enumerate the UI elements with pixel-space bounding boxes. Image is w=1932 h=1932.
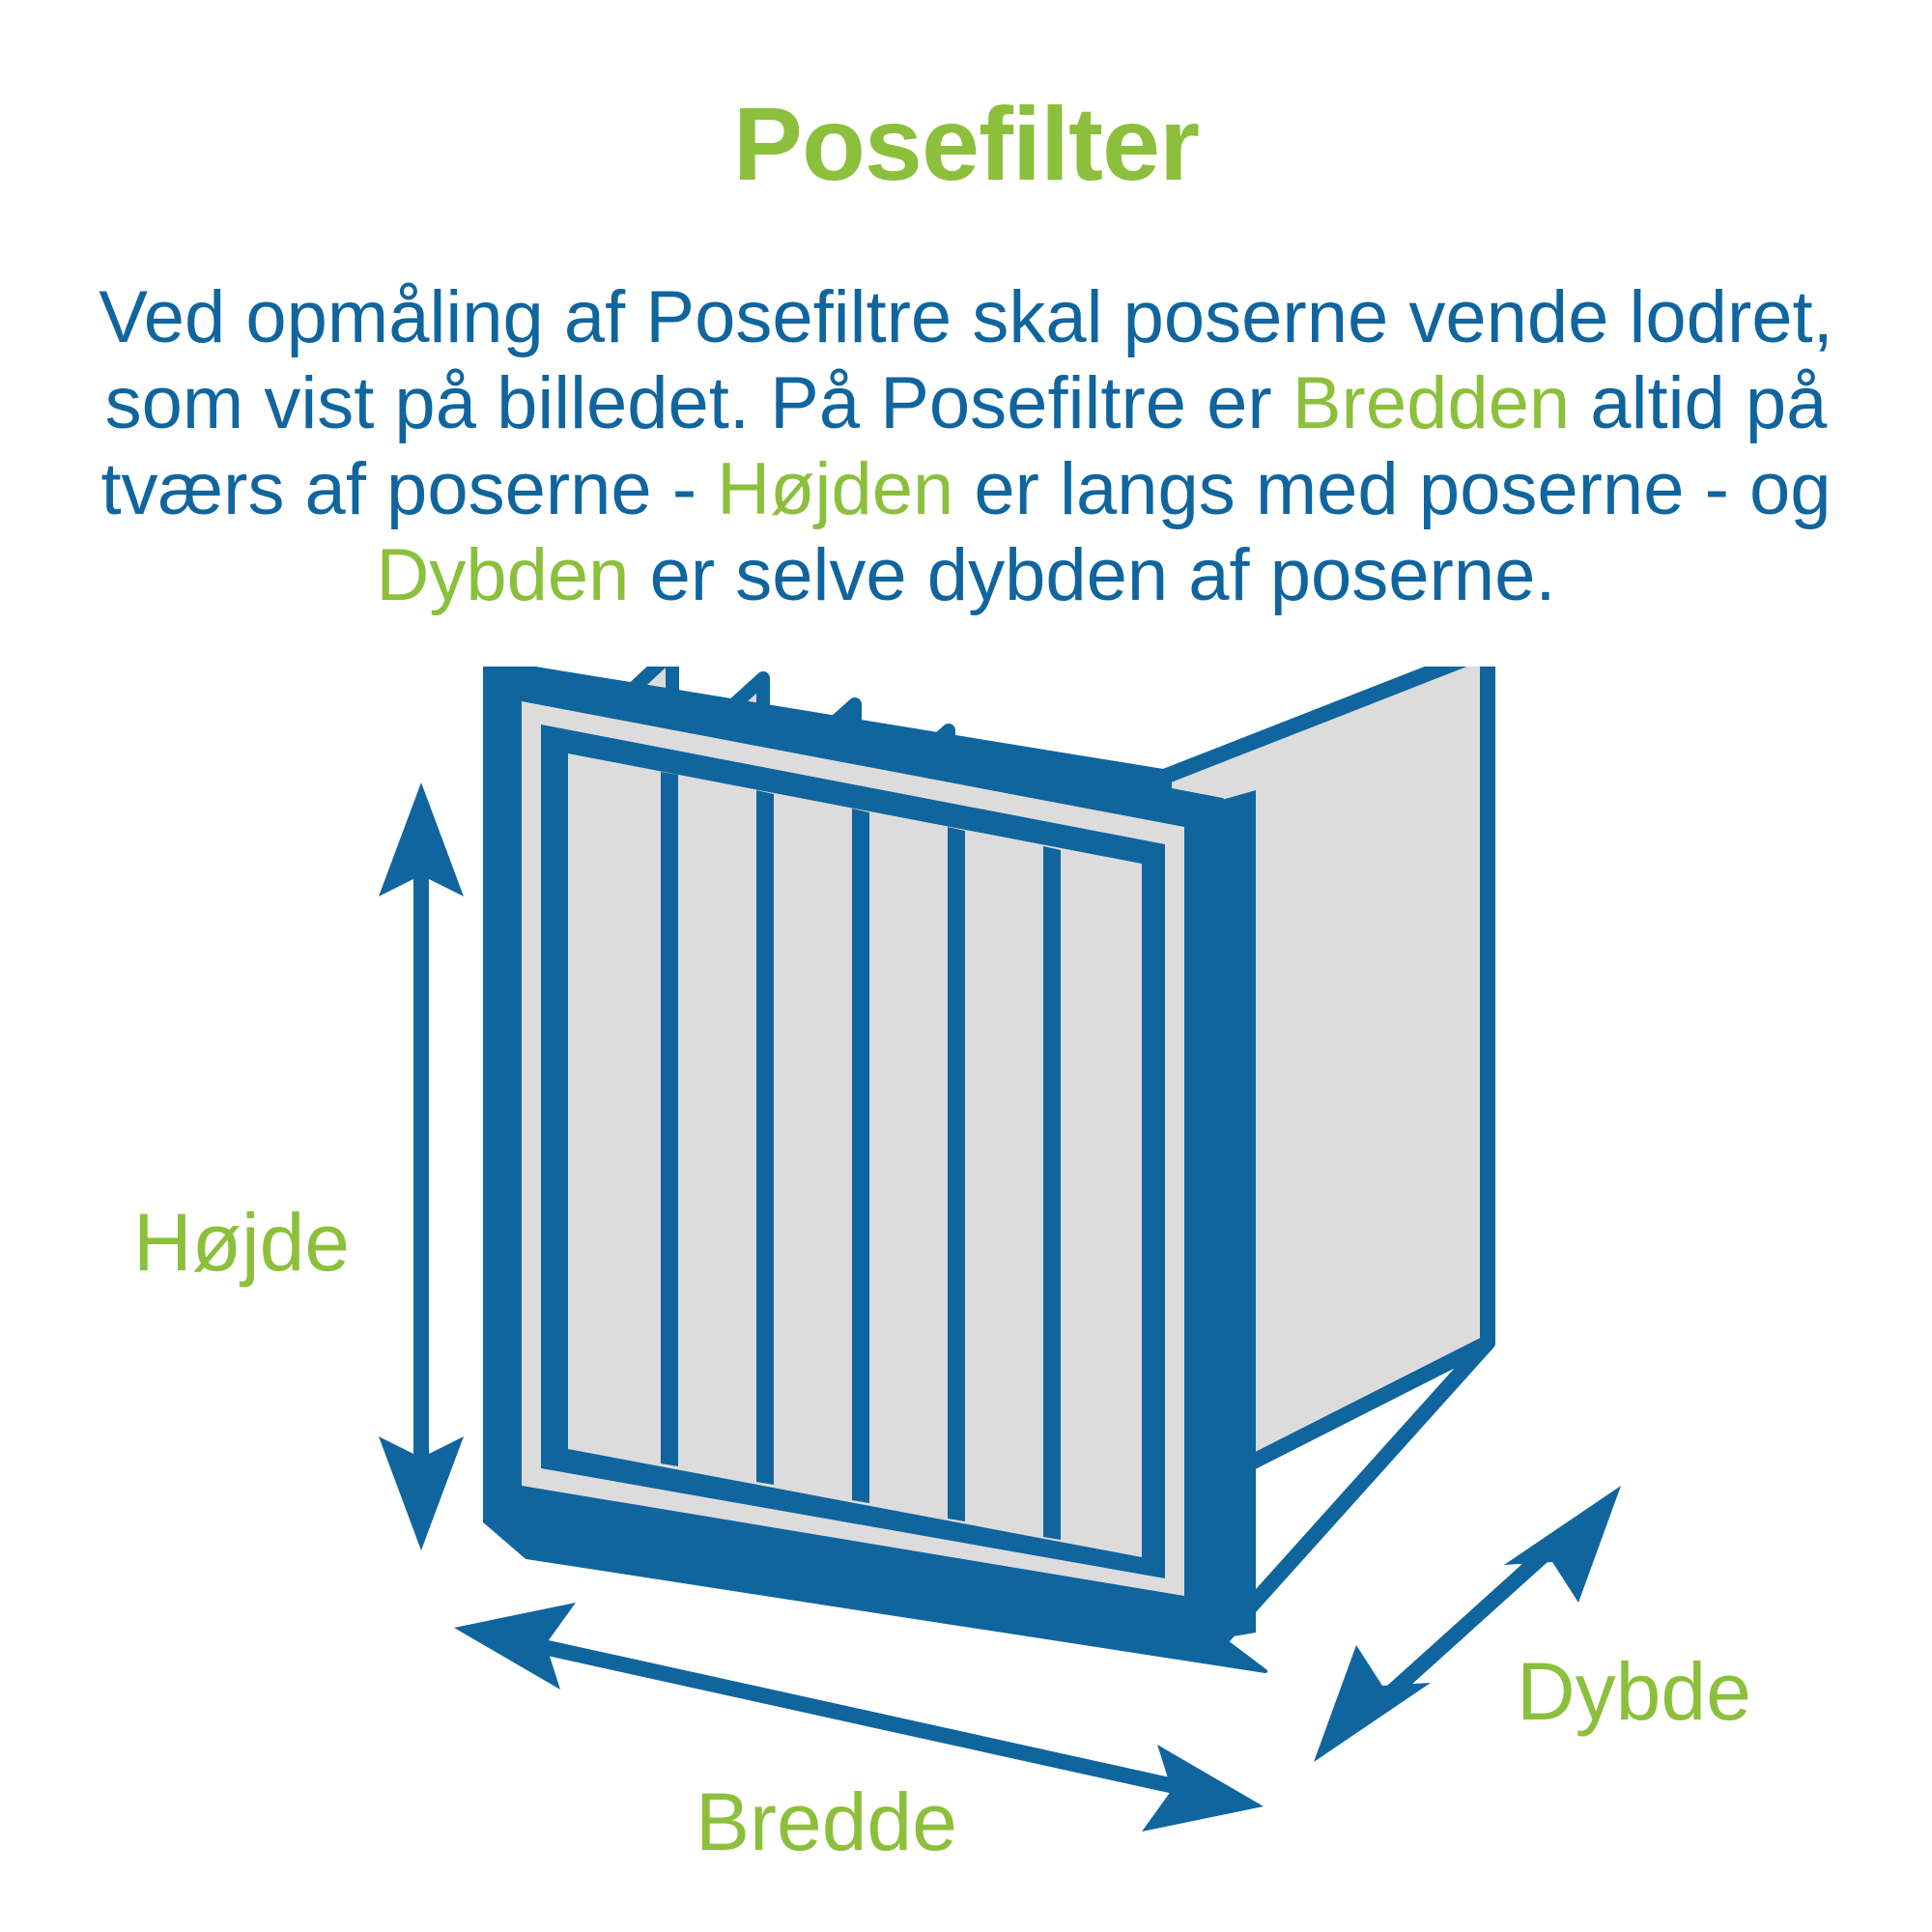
page-title: Posefilter (0, 89, 1932, 198)
body-right-depth-edge (1222, 790, 1256, 1638)
intro-line-1: Ved opmåling af Posefiltre skal poserne … (99, 276, 1833, 358)
depth-label: Dybde (1517, 1646, 1751, 1737)
height-arrow (379, 782, 464, 1550)
intro-paragraph: Ved opmåling af Posefiltre skal poserne … (92, 275, 1840, 619)
pocket-divider-2 (756, 790, 774, 1485)
intro-highlight-dybden: Dybden (376, 534, 629, 616)
intro-line-2-pre: som vist på billedet. På Posefiltre er (105, 362, 1293, 444)
intro-line-3-post: er langs med poserne (953, 448, 1684, 530)
pocket-divider-4 (948, 827, 965, 1521)
intro-line-2-post: altid på (1570, 362, 1827, 444)
intro-highlight-hojden: Højden (717, 448, 953, 530)
poster-root: Posefilter Ved opmåling af Posefiltre sk… (0, 0, 1932, 1932)
height-label: Højde (133, 1197, 350, 1288)
width-label: Bredde (696, 1776, 957, 1867)
pocket-divider-1 (661, 772, 678, 1466)
intro-line-4-post: er selve dybden af poserne. (629, 534, 1555, 616)
pocket-divider-5 (1043, 846, 1061, 1540)
intro-line-3-pre: tværs af poserne - (100, 448, 717, 530)
intro-line-4-pre: - og (1705, 448, 1832, 530)
pocket-divider-3 (852, 809, 869, 1503)
intro-highlight-bredden: Bredden (1293, 362, 1570, 444)
bag-filter-diagram: Højde Bredde Dybde (0, 667, 1932, 1932)
